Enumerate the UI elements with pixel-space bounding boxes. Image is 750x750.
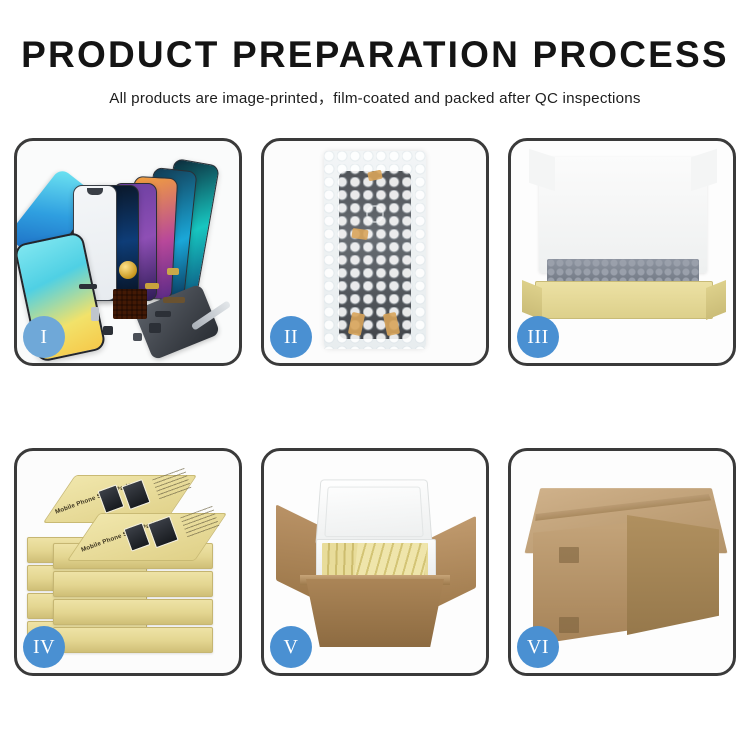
step-badge-4: IV: [23, 626, 65, 668]
box-spec-lines: [180, 506, 219, 538]
process-steps-grid: I II III: [14, 138, 736, 676]
gold-coil-icon: [119, 261, 137, 279]
page-header: PRODUCT PREPARATION PROCESS All products…: [0, 0, 750, 108]
carton-front-face: [306, 579, 444, 647]
component-chip-icon: [79, 284, 97, 289]
component-chip-icon: [163, 297, 185, 303]
component-chip-icon: [145, 283, 159, 289]
component-chip-icon: [103, 326, 113, 335]
stacked-box: [53, 599, 213, 625]
step-badge-3: III: [517, 316, 559, 358]
bubble-texture-overlay: [324, 151, 426, 349]
box-spec-lines: [152, 468, 191, 500]
yellow-box-tray: [535, 281, 713, 319]
component-chip-icon: [167, 268, 179, 275]
page-title: PRODUCT PREPARATION PROCESS: [0, 36, 750, 75]
circuit-board-icon: [113, 289, 147, 319]
stacked-box: [53, 571, 213, 597]
foam-lid-open: [315, 479, 432, 545]
phone-fan-group: [89, 159, 239, 304]
tape-piece-icon: [351, 228, 368, 240]
component-chip-icon: [133, 333, 142, 341]
process-step-panel-1: I: [14, 138, 242, 366]
step-badge-5: V: [270, 626, 312, 668]
process-step-panel-6: VI: [508, 448, 736, 676]
white-foam-lid: [539, 157, 707, 273]
step-badge-6: VI: [517, 626, 559, 668]
process-step-panel-5: V: [261, 448, 489, 676]
component-chip-icon: [91, 307, 99, 321]
process-step-panel-4: Mobile Phone Spare Parts Mobile Phone Sp…: [14, 448, 242, 676]
yellow-boxes-inside: [354, 543, 428, 577]
carton-right-face: [627, 515, 719, 635]
process-step-panel-2: II: [261, 138, 489, 366]
page-subtitle: All products are image-printed，film-coat…: [0, 86, 750, 108]
step-badge-2: II: [270, 316, 312, 358]
bubble-wrap-bag: [324, 151, 426, 349]
process-step-panel-3: III: [508, 138, 736, 366]
component-chip-icon: [149, 323, 161, 333]
carton-handle-tab: [559, 617, 579, 633]
component-chip-icon: [155, 311, 171, 317]
step-badge-1: I: [23, 316, 65, 358]
carton-left-face: [533, 523, 629, 645]
stacked-box: [53, 627, 213, 653]
carton-handle-tab: [559, 547, 579, 563]
